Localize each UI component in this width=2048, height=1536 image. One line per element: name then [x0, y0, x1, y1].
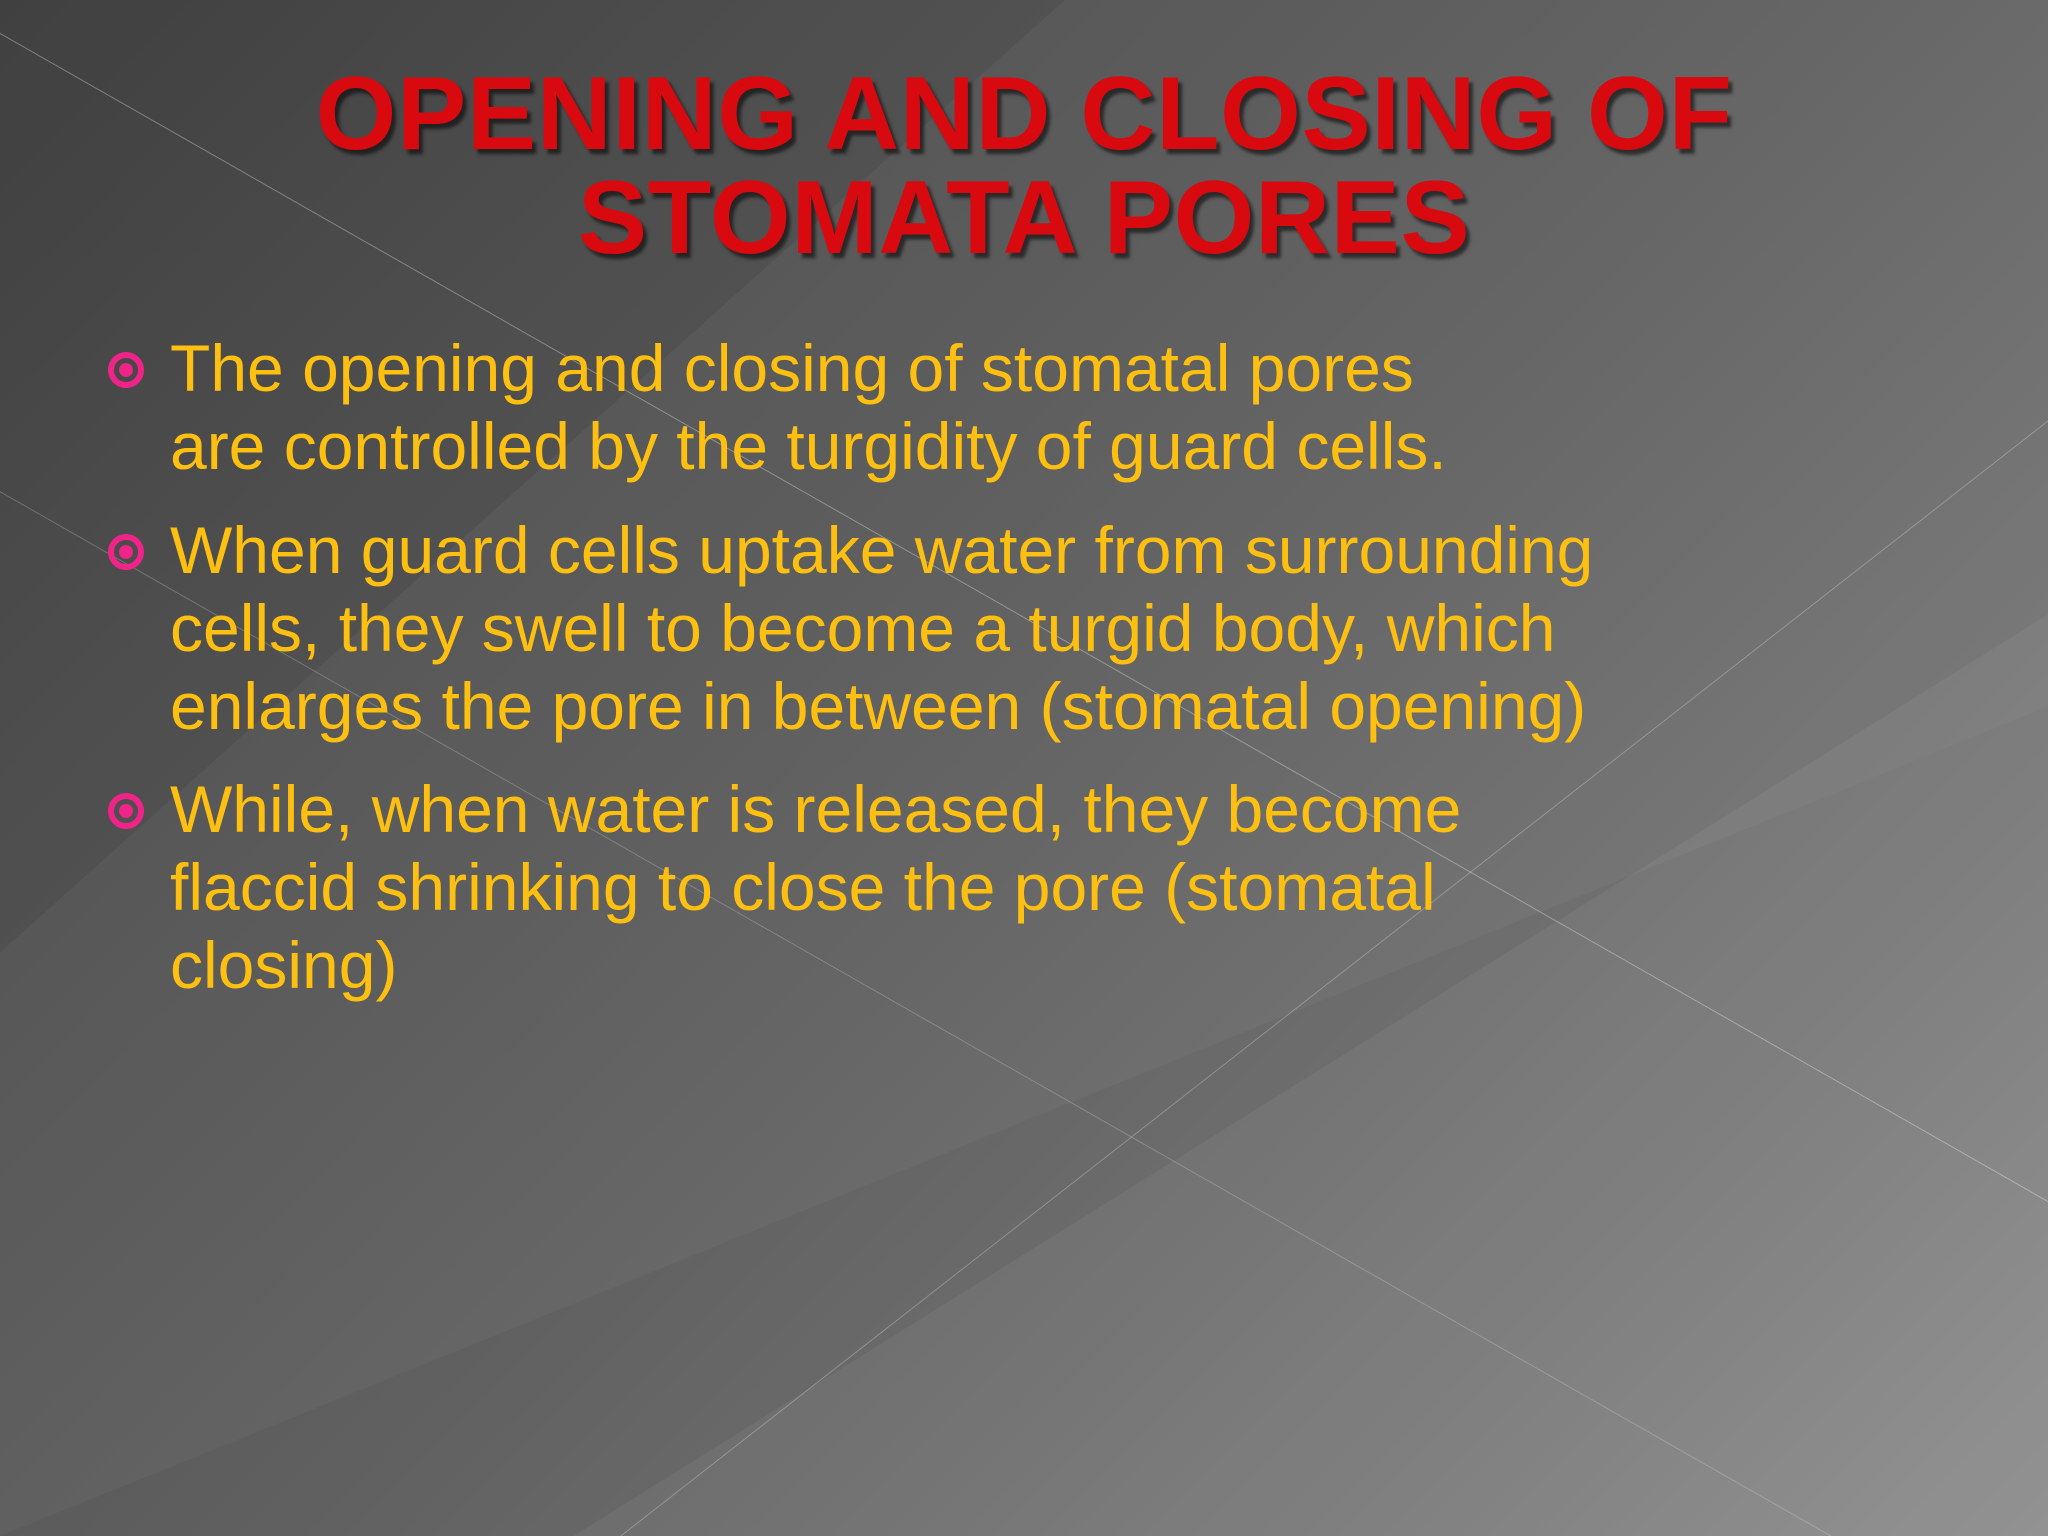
slide-title-line-1: OPENING AND CLOSING OF [120, 62, 1928, 166]
bullet-text: When guard cells uptake water from surro… [170, 512, 1600, 746]
bullet-text: While, when water is released, they beco… [170, 771, 1570, 1005]
list-item: While, when water is released, they beco… [108, 771, 1918, 1005]
presentation-slide: OPENING AND CLOSING OF STOMATA PORES The… [0, 0, 2048, 1536]
slide-title: OPENING AND CLOSING OF STOMATA PORES [120, 62, 1928, 270]
bullet-text: The opening and closing of stomatal pore… [170, 330, 1500, 486]
ring-dot-bullet-icon [108, 352, 144, 388]
ring-dot-bullet-icon [108, 534, 144, 570]
slide-body-content: The opening and closing of stomatal pore… [108, 330, 1918, 1031]
ring-dot-bullet-icon [108, 793, 144, 829]
slide-title-line-2: STOMATA PORES [120, 166, 1928, 270]
list-item: The opening and closing of stomatal pore… [108, 330, 1918, 486]
list-item: When guard cells uptake water from surro… [108, 512, 1918, 746]
